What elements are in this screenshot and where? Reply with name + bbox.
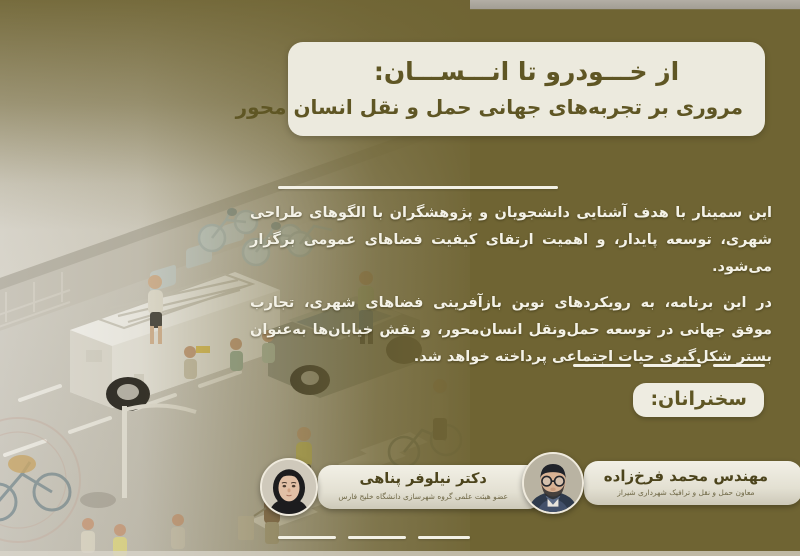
poster-main-title: از خـــودرو تا انـــســـان: xyxy=(310,56,743,87)
body-paragraph-1: این سمینار با هدف آشنایی دانشجویان و پژو… xyxy=(250,200,772,280)
dash-segment xyxy=(713,364,765,367)
speaker-card-1: مهندس محمد فرخ‌زاده معاون حمل و نقل و تر… xyxy=(522,452,776,514)
bottom-light-strip xyxy=(0,551,800,556)
divider-dashes-bottom xyxy=(278,536,470,539)
divider-rule-top xyxy=(278,186,558,189)
speaker-1-info: مهندس محمد فرخ‌زاده معاون حمل و نقل و تر… xyxy=(584,461,800,505)
speaker-1-name: مهندس محمد فرخ‌زاده xyxy=(604,467,768,485)
dash-segment xyxy=(418,536,470,539)
male-portrait-avatar xyxy=(522,452,584,514)
divider-dashes-middle xyxy=(573,364,765,367)
female-portrait-avatar xyxy=(260,458,318,516)
body-paragraph-2: در این برنامه، به رویکردهای نوین بازآفری… xyxy=(250,290,772,370)
speaker-1-role: معاون حمل و نقل و ترافیک شهرداری شیراز xyxy=(604,488,768,498)
speaker-card-2: دکتر نیلوفر پناهی عضو هیئت علمی گروه شهر… xyxy=(260,458,516,516)
speaker-2-info: دکتر نیلوفر پناهی عضو هیئت علمی گروه شهر… xyxy=(318,465,542,508)
poster-body-text: این سمینار با هدف آشنایی دانشجویان و پژو… xyxy=(250,200,772,371)
title-card: از خـــودرو تا انـــســـان: مروری بر تجر… xyxy=(288,42,765,136)
speaker-2-role: عضو هیئت علمی گروه شهرسازی دانشگاه خلیج … xyxy=(338,492,508,502)
speaker-2-name: دکتر نیلوفر پناهی xyxy=(338,471,508,488)
dash-segment xyxy=(573,364,631,367)
dash-segment xyxy=(348,536,406,539)
seminar-poster: از خـــودرو تا انـــســـان: مروری بر تجر… xyxy=(0,0,800,556)
speakers-heading: سخنرانان: xyxy=(633,383,764,417)
dash-segment xyxy=(278,536,336,539)
dash-segment xyxy=(643,364,701,367)
poster-subtitle: مروری بر تجربه‌های جهانی حمل و نقل انسان… xyxy=(310,94,743,120)
